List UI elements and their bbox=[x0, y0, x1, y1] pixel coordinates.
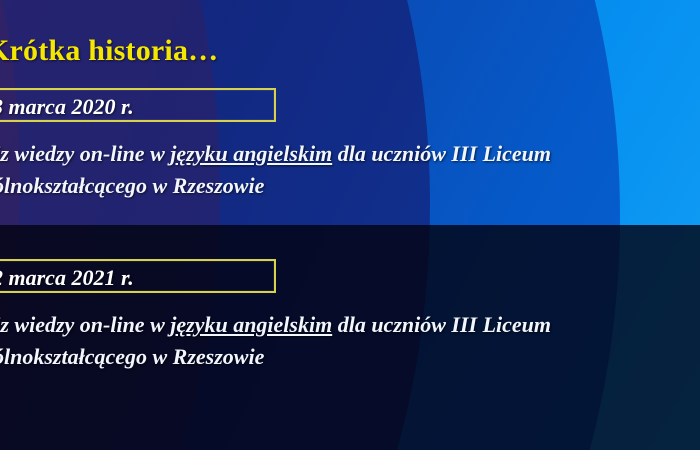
slide-title: Krótka historia… bbox=[0, 34, 218, 68]
entry-text-line2-2021: gólnokształcącego w Rzeszowie bbox=[0, 341, 700, 373]
entry-text-post-2020: dla uczniów III Liceum bbox=[332, 141, 551, 166]
entry-text-underlined-2021: języku angielskim bbox=[170, 312, 332, 337]
entry-description-2020: uiz wiedzy on-line w języku angielskim d… bbox=[0, 138, 700, 202]
slide-content: Krótka historia… 3 marca 2020 r. uiz wie… bbox=[0, 0, 700, 450]
date-label-2020: 3 marca 2020 r. bbox=[0, 94, 134, 120]
presentation-slide: Krótka historia… 3 marca 2020 r. uiz wie… bbox=[0, 0, 700, 450]
entry-text-post-2021: dla uczniów III Liceum bbox=[332, 312, 551, 337]
entry-text-pre-2021: uiz wiedzy on-line w bbox=[0, 312, 170, 337]
entry-text-underlined-2020: języku angielskim bbox=[170, 141, 332, 166]
entry-text-line2-2020: gólnokształcącego w Rzeszowie bbox=[0, 170, 700, 202]
entry-description-2021: uiz wiedzy on-line w języku angielskim d… bbox=[0, 309, 700, 373]
entry-text-pre-2020: uiz wiedzy on-line w bbox=[0, 141, 170, 166]
date-label-2021: 2 marca 2021 r. bbox=[0, 265, 134, 291]
